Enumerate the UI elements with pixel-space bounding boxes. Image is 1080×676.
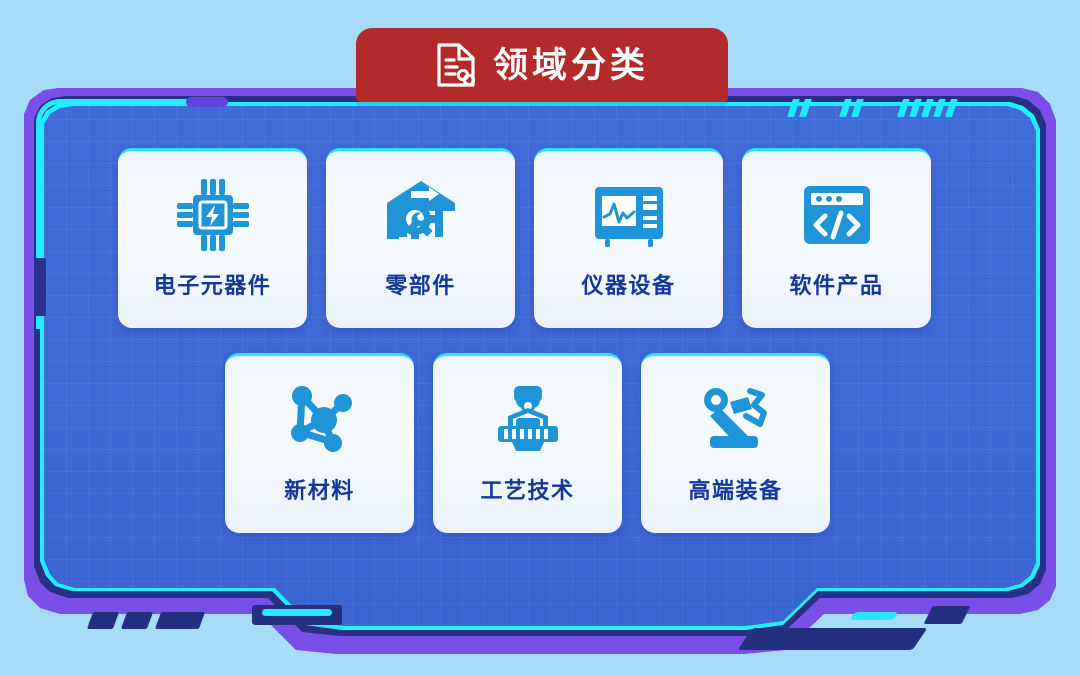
category-card-label: 零部件 [385,275,456,297]
document-report-icon [435,42,477,88]
trace-cap-left [34,258,46,316]
hash-marks-group-b [842,99,861,117]
category-card-software[interactable]: 软件产品 [742,148,931,328]
category-card-label: 软件产品 [789,275,883,297]
category-card-label: 高端装备 [688,480,782,502]
bottom-left-cyan-bar [262,609,332,616]
category-row-1: 电子元器件 [118,148,931,328]
bottom-right-cyan-bar [849,612,898,620]
robot-arm-icon [694,378,778,462]
category-card-process-tech[interactable]: 工艺技术 [433,353,622,533]
code-window-icon [795,173,879,257]
category-card-label: 工艺技术 [480,480,574,502]
bottom-right-dark-bar-2 [924,606,971,624]
category-card-instruments[interactable]: 仪器设备 [534,148,723,328]
category-card-parts[interactable]: 零部件 [326,148,515,328]
category-card-high-end-equipment[interactable]: 高端装备 [641,353,830,533]
category-card-new-materials[interactable]: 新材料 [225,353,414,533]
oscilloscope-icon [587,173,671,257]
molecule-network-icon [278,378,362,462]
infographic-stage: 领域分类 [0,0,1080,676]
chip-bolt-icon [171,173,255,257]
factory-gear-wrench-icon [379,173,463,257]
category-card-label: 电子元器件 [154,275,272,297]
press-machine-icon [486,378,570,462]
category-row-2: 新材料 [225,353,830,533]
category-card-label: 新材料 [284,480,355,502]
hash-marks-group-a [790,99,809,117]
hash-marks-group-c [900,99,955,117]
title-banner: 领域分类 [356,28,728,102]
trace-cap-top [186,97,228,107]
bottom-left-dashes [90,612,202,629]
bottom-right-dark-bar [738,628,928,650]
category-card-electronic-components[interactable]: 电子元器件 [118,148,307,328]
page-title: 领域分类 [493,48,649,83]
category-card-label: 仪器设备 [581,275,675,297]
